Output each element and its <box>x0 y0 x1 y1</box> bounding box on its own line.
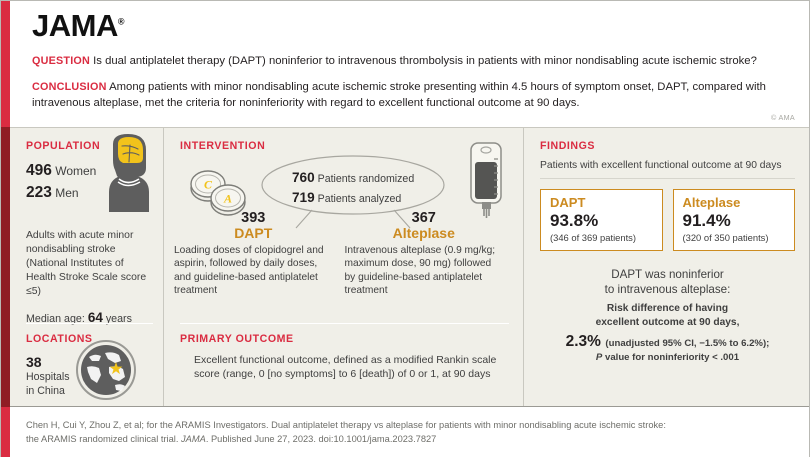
accent-bar-top <box>1 1 10 127</box>
jama-logo: JAMA® <box>32 10 124 43</box>
noninferiority-summary: DAPT was noninferior to intravenous alte… <box>540 267 795 363</box>
noninferiority-line1: DAPT was noninferior <box>540 267 795 282</box>
findings-column: FINDINGS Patients with excellent functio… <box>523 128 809 406</box>
men-label: Men <box>55 186 78 200</box>
conclusion-label: CONCLUSION <box>32 81 107 93</box>
findings-divider <box>540 178 795 179</box>
globe-icon <box>75 339 137 406</box>
citation-journal: JAMA <box>181 434 206 444</box>
registered-mark: ® <box>118 17 124 27</box>
citation-line-1: Chen H, Cui Y, Zhou Z, et al; for the AR… <box>26 419 791 433</box>
randomized-label: Patients randomized <box>318 173 415 185</box>
finding-card-dapt: DAPT 93.8% (346 of 369 patients) <box>540 189 663 251</box>
citation-suffix: . Published June 27, 2023. doi:10.1001/j… <box>206 434 437 444</box>
enrollment-counts: 760 Patients randomized 719 Patients ana… <box>292 168 414 207</box>
intervention-heading: INTERVENTION <box>180 140 511 152</box>
analyzed-count: 719 <box>292 190 315 205</box>
finding-card-dapt-title: DAPT <box>550 196 654 211</box>
primary-outcome-divider <box>180 323 509 324</box>
accent-bar-middle <box>1 127 10 407</box>
question-block: QUESTION Is dual antiplatelet therapy (D… <box>32 54 787 70</box>
findings-cards: DAPT 93.8% (346 of 369 patients) Altepla… <box>540 189 795 251</box>
finding-card-alteplase-detail: (320 of 350 patients) <box>683 232 787 243</box>
question-text: Is dual antiplatelet therapy (DAPT) noni… <box>93 55 757 67</box>
population-column: POPULATION 496 Women 223 Men Adults with… <box>10 128 163 406</box>
finding-card-alteplase-title: Alteplase <box>683 196 787 211</box>
primary-outcome-heading: PRIMARY OUTCOME <box>180 333 509 345</box>
treatment-arms: 393 DAPT Loading doses of clopidogrel an… <box>174 210 515 297</box>
women-label: Women <box>55 164 96 178</box>
citation-line-2: the ARAMIS randomized clinical trial. JA… <box>26 433 791 447</box>
finding-card-alteplase-percent: 91.4% <box>683 211 787 231</box>
svg-text:A: A <box>223 192 232 206</box>
arm-alteplase-n: 367 <box>345 210 504 226</box>
primary-outcome-block: PRIMARY OUTCOME Excellent functional out… <box>180 323 509 382</box>
analyzed-row: 719 Patients analyzed <box>292 188 414 208</box>
arm-dapt-description: Loading doses of clopidogrel and aspirin… <box>174 244 333 297</box>
findings-heading: FINDINGS <box>540 140 795 152</box>
randomized-row: 760 Patients randomized <box>292 168 414 188</box>
locations-divider <box>26 323 153 324</box>
footer: Chen H, Cui Y, Zhou Z, et al; for the AR… <box>10 407 809 457</box>
p-value: P value for noninferiority < .001 <box>540 352 795 363</box>
population-description: Adults with acute minor nondisabling str… <box>26 229 153 299</box>
risk-difference-line2: excellent outcome at 90 days, <box>540 316 795 329</box>
jama-logo-text: JAMA <box>32 8 118 43</box>
copyright-notice: © AMA <box>771 113 795 122</box>
locations-block: LOCATIONS 38 Hospitals in China <box>26 323 153 399</box>
p-value-text: value for noninferiority < .001 <box>605 352 739 363</box>
citation-prefix: the ARAMIS randomized clinical trial. <box>26 434 181 444</box>
findings-subtitle: Patients with excellent functional outco… <box>540 160 795 178</box>
intervention-column: INTERVENTION C A <box>163 128 523 406</box>
svg-text:C: C <box>204 178 213 192</box>
men-count: 223 <box>26 184 52 201</box>
arm-alteplase: 367 Alteplase Intravenous alteplase (0.9… <box>345 210 516 297</box>
arm-dapt-n: 393 <box>174 210 333 226</box>
hospital-label: Hospitals in China <box>26 371 70 397</box>
visual-abstract: JAMA® QUESTION Is dual antiplatelet ther… <box>0 0 810 457</box>
finding-card-dapt-detail: (346 of 369 patients) <box>550 232 654 243</box>
arm-alteplase-name: Alteplase <box>345 225 504 241</box>
conclusion-text: Among patients with minor nondisabling a… <box>32 81 766 109</box>
randomized-count: 760 <box>292 170 315 185</box>
p-value-symbol: P <box>596 352 602 363</box>
finding-card-dapt-percent: 93.8% <box>550 211 654 231</box>
women-count: 496 <box>26 162 52 179</box>
arm-dapt-name: DAPT <box>174 225 333 241</box>
risk-difference-line1: Risk difference of having <box>540 302 795 315</box>
conclusion-block: CONCLUSION Among patients with minor non… <box>32 80 787 111</box>
arm-dapt: 393 DAPT Loading doses of clopidogrel an… <box>174 210 345 297</box>
accent-bar-bottom <box>1 407 10 457</box>
confidence-interval: (unadjusted 95% CI, −1.5% to 6.2%); <box>605 338 769 349</box>
risk-difference-value-row: 2.3% (unadjusted 95% CI, −1.5% to 6.2%); <box>540 333 795 351</box>
primary-outcome-text: Excellent functional outcome, defined as… <box>180 353 509 382</box>
body-panels: POPULATION 496 Women 223 Men Adults with… <box>10 127 809 407</box>
analyzed-label: Patients analyzed <box>318 193 402 205</box>
risk-difference-value: 2.3% <box>566 333 601 350</box>
head-brain-icon <box>99 134 157 217</box>
arm-alteplase-description: Intravenous alteplase (0.9 mg/kg; maximu… <box>345 244 504 297</box>
header: JAMA® QUESTION Is dual antiplatelet ther… <box>10 1 809 127</box>
noninferiority-line2: to intravenous alteplase: <box>540 282 795 297</box>
question-label: QUESTION <box>32 55 90 67</box>
finding-card-alteplase: Alteplase 91.4% (320 of 350 patients) <box>673 189 796 251</box>
